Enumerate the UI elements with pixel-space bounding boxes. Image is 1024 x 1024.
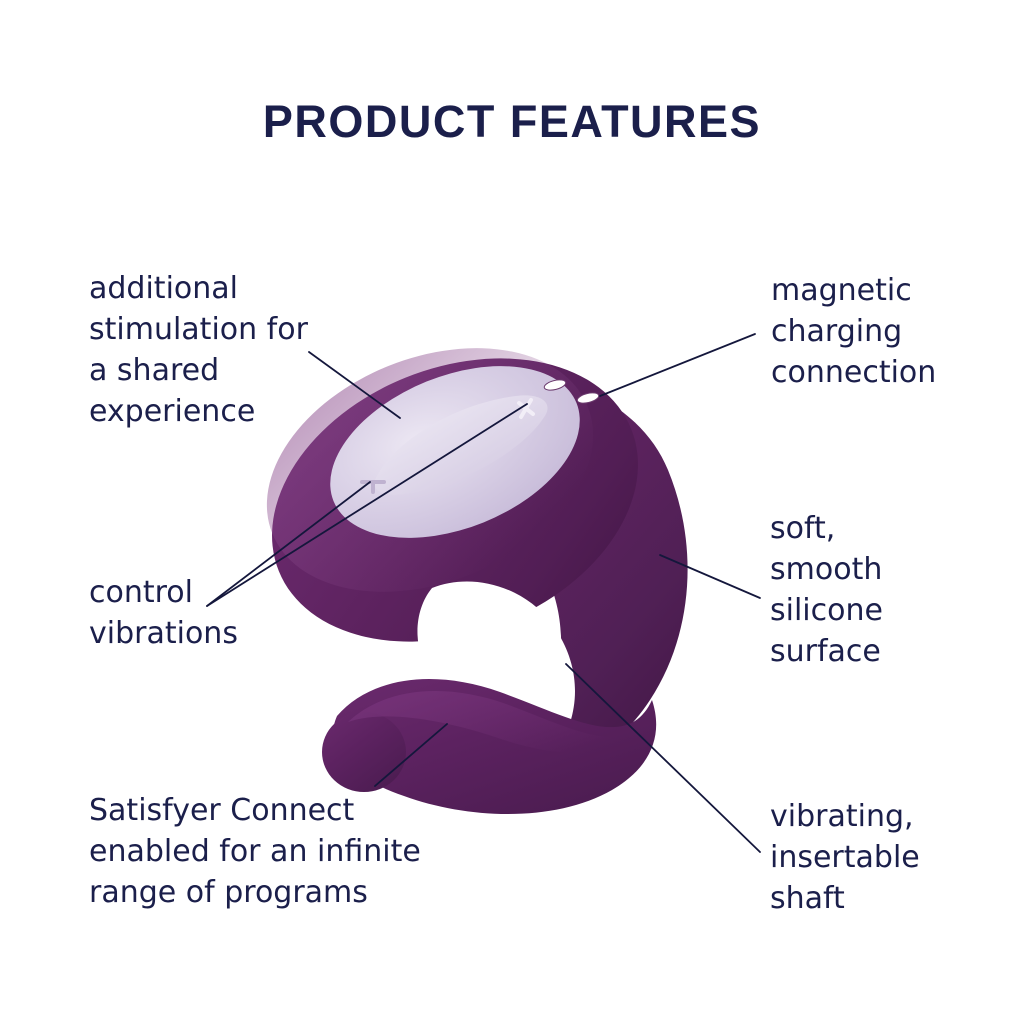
callout-label-magnetic-charging: magnetic charging connection (771, 270, 1001, 393)
product-features-page: PRODUCT FEATURES (0, 0, 1024, 1024)
control-panel-ridge (374, 395, 547, 494)
charging-contact-1 (543, 378, 567, 392)
leader-line-satisfyer-connect (375, 724, 447, 786)
magnetic-charging-contacts (543, 378, 600, 405)
callout-label-control-vibrations: control vibrations (89, 572, 319, 654)
inner-gap-shadow (417, 581, 575, 752)
callout-label-additional-stimulation: additional stimulation for a shared expe… (89, 268, 389, 432)
shaft-tip (322, 712, 406, 792)
shaft-highlight (348, 691, 640, 753)
decrease-intensity-mark[interactable] (362, 482, 384, 492)
callout-label-soft-smooth-silicone: soft, smooth silicone surface (770, 508, 990, 672)
leader-line-soft-smooth (660, 555, 760, 598)
product-outer-shell (412, 376, 688, 783)
charging-contact-2 (576, 391, 600, 405)
increase-intensity-mark[interactable] (519, 400, 533, 417)
leader-line-magnetic-charging (600, 334, 755, 396)
callout-label-vibrating-insertable-shaft: vibrating, insertable shaft (770, 796, 990, 919)
leader-line-vibrating-shaft (566, 664, 760, 852)
page-title: PRODUCT FEATURES (0, 96, 1024, 148)
callout-label-satisfyer-connect: Satisfyer Connect enabled for an infinit… (89, 790, 489, 913)
